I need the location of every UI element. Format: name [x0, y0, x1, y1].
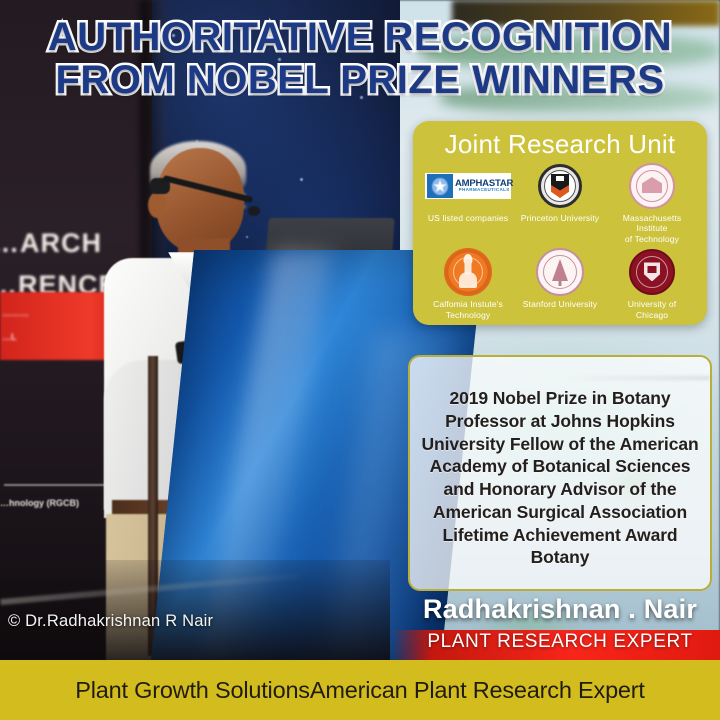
jru-item-university-of-chicago[interactable]: University of Chicago: [607, 248, 697, 320]
headline-line-1: AUTHORITATIVE RECOGNITION: [0, 16, 720, 59]
jru-item-us-listed-companies[interactable]: ★ AMPHASTAR PHARMACEUTICALS US listed co…: [423, 162, 513, 244]
bottom-banner: Plant Growth SolutionsAmerican Plant Res…: [0, 660, 720, 720]
banner-red-line-2: …L: [2, 332, 17, 342]
bottom-banner-text: Plant Growth SolutionsAmerican Plant Res…: [75, 677, 645, 704]
headline-line-2: FROM NOBEL PRIZE WINNERS: [0, 59, 720, 102]
speaker-ear: [148, 192, 166, 218]
jru-item-princeton-university[interactable]: Princeton University: [515, 162, 605, 244]
joint-research-unit-title: Joint Research Unit: [413, 121, 707, 160]
jru-label: University of Chicago: [607, 299, 697, 320]
jru-item-caltech[interactable]: Calfomia Instute's Technology: [423, 248, 513, 320]
copyright-notice: © Dr.Radhakrishnan R Nair: [8, 612, 213, 631]
amphastar-pharmaceuticals-logo-icon: ★ AMPHASTAR PHARMACEUTICALS: [423, 162, 513, 210]
stage-foreground: [0, 560, 390, 660]
amphastar-subtitle: PHARMACEUTICALS: [455, 188, 513, 193]
banner-red-line-1: ………: [2, 308, 29, 318]
joint-research-unit-panel: Joint Research Unit ★ AMPHASTAR PHARMACE…: [413, 121, 707, 325]
joint-research-unit-grid: ★ AMPHASTAR PHARMACEUTICALS US listed co…: [413, 160, 707, 320]
biography-text: 2019 Nobel Prize in Botany Professor at …: [420, 387, 700, 569]
page-title: AUTHORITATIVE RECOGNITION FROM NOBEL PRI…: [0, 16, 720, 102]
banner-divider: [4, 484, 119, 486]
jru-item-mit[interactable]: Massachusetts Institute of Technology: [607, 162, 697, 244]
jru-label: Stanford University: [515, 299, 605, 309]
speaker-head: [156, 148, 244, 252]
university-of-chicago-seal-icon: [607, 248, 697, 296]
mit-seal-icon: [607, 162, 697, 210]
amphastar-star-icon: ★: [427, 174, 453, 198]
poster-root: …hole of the p… …milation I… pre-… 1st G…: [0, 0, 720, 720]
princeton-university-seal-icon: [515, 162, 605, 210]
headset-microphone-tip: [248, 206, 260, 216]
jru-label: US listed companies: [423, 213, 513, 223]
banner-footer-text: …hnology (RGCB): [0, 498, 79, 508]
jru-item-stanford-university[interactable]: Stanford University: [515, 248, 605, 320]
caltech-seal-icon: [423, 248, 513, 296]
stanford-university-seal-icon: [515, 248, 605, 296]
jru-label: Massachusetts Institute of Technology: [607, 213, 697, 244]
biography-panel: 2019 Nobel Prize in Botany Professor at …: [408, 355, 712, 591]
speaker-name: Radhakrishnan . Nair: [400, 594, 720, 625]
banner-line-1: …ARCH: [0, 228, 102, 259]
jru-label: Princeton University: [515, 213, 605, 223]
jru-label: Calfomia Instute's Technology: [423, 299, 513, 320]
speaker-role: PLANT RESEARCH EXPERT: [400, 631, 720, 653]
